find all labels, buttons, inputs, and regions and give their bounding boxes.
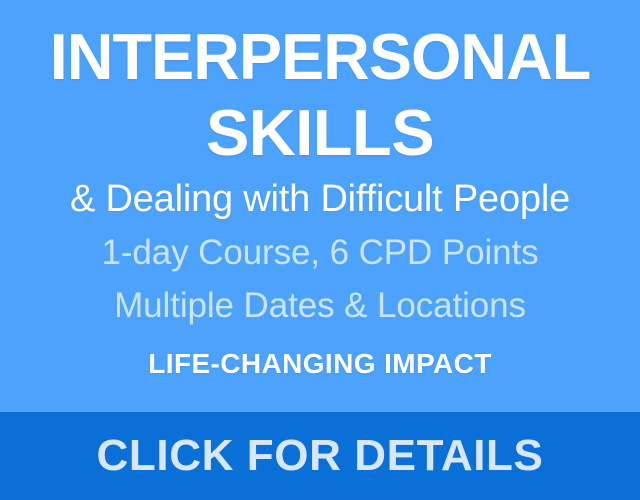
headline-line-2: SKILLS xyxy=(0,102,640,164)
cta-bar[interactable]: CLICK FOR DETAILS xyxy=(0,412,640,500)
headline-line-1: INTERPERSONAL xyxy=(2,26,639,88)
advertisement-banner[interactable]: INTERPERSONAL SKILLS & Dealing with Diff… xyxy=(0,0,640,500)
course-detail-duration: 1-day Course, 6 CPD Points xyxy=(101,233,538,273)
banner-subheading: & Dealing with Difficult People xyxy=(70,178,570,220)
cta-label[interactable]: CLICK FOR DETAILS xyxy=(97,432,544,480)
banner-content-panel: INTERPERSONAL SKILLS & Dealing with Diff… xyxy=(0,0,640,412)
headline-group: INTERPERSONAL SKILLS xyxy=(0,26,640,164)
impact-statement: LIFE-CHANGING IMPACT xyxy=(148,348,491,380)
course-detail-dates: Multiple Dates & Locations xyxy=(114,286,526,326)
